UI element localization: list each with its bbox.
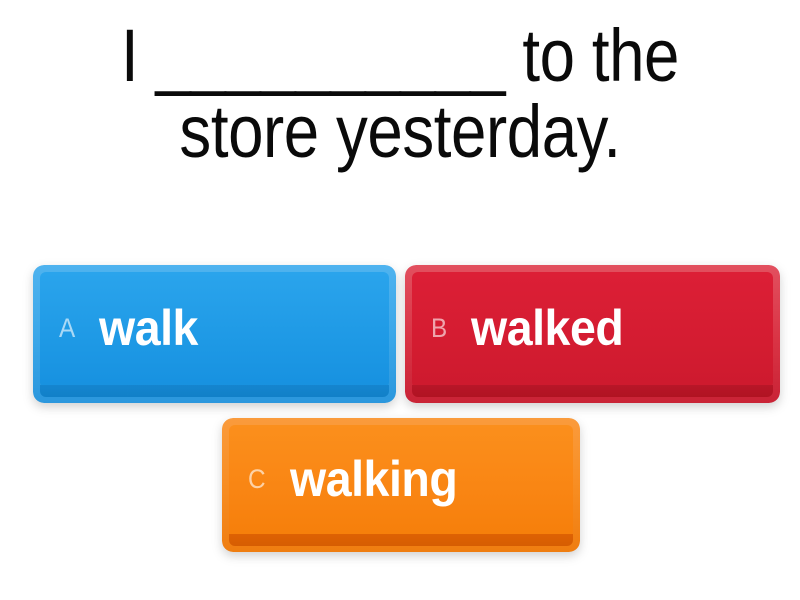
answer-b-content: B walked xyxy=(405,265,780,403)
answer-b-label: walked xyxy=(471,303,623,353)
answer-a-label: walk xyxy=(99,303,198,353)
answer-options: A walk B walked C walking xyxy=(0,0,800,600)
quiz-root: I __________ to the store yesterday. A w… xyxy=(0,0,800,600)
answer-c-content: C walking xyxy=(222,418,580,552)
answer-a-letter: A xyxy=(59,315,75,342)
answer-c-label: walking xyxy=(290,454,457,504)
answer-b-letter: B xyxy=(431,315,447,342)
answer-c-letter: C xyxy=(248,466,266,493)
answer-option-a[interactable]: A walk xyxy=(33,265,396,403)
answer-a-content: A walk xyxy=(33,265,396,403)
answer-option-b[interactable]: B walked xyxy=(405,265,780,403)
answer-option-c[interactable]: C walking xyxy=(222,418,580,552)
